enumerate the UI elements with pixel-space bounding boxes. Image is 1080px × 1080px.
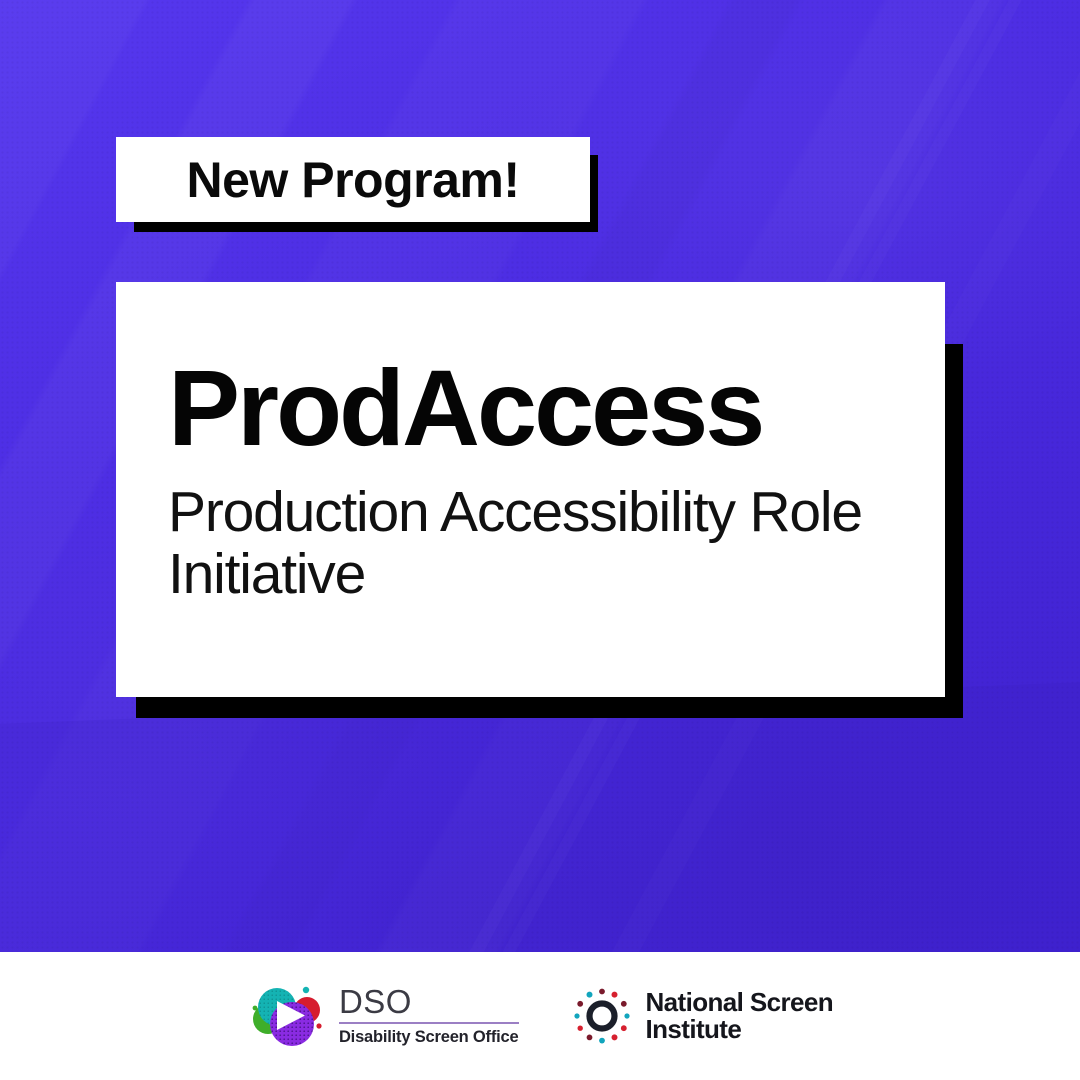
dso-tagline: Disability Screen Office: [339, 1028, 519, 1046]
promo-poster: New Program! ProdAccess Production Acces…: [0, 0, 1080, 1080]
new-program-badge-label: New Program!: [187, 155, 520, 205]
program-title: ProdAccess: [168, 354, 915, 462]
program-card: ProdAccess Production Accessibility Role…: [116, 282, 945, 697]
program-card-content: ProdAccess Production Accessibility Role…: [168, 354, 915, 605]
footer-logo-bar: DSO Disability Screen Office: [0, 952, 1080, 1080]
dso-circles-play-icon: [247, 982, 325, 1050]
new-program-badge: New Program!: [116, 137, 590, 222]
dso-logo: DSO Disability Screen Office: [247, 982, 519, 1050]
dso-divider-rule: [339, 1022, 519, 1024]
program-subtitle: Production Accessibility Role Initiative: [168, 482, 868, 605]
national-screen-institute-logo: National Screen Institute: [571, 985, 834, 1047]
dso-acronym: DSO: [339, 985, 519, 1018]
dso-wordmark: DSO Disability Screen Office: [339, 985, 519, 1046]
nsi-dotted-ring-icon: [571, 985, 633, 1047]
national-screen-institute-wordmark: National Screen Institute: [646, 989, 834, 1042]
